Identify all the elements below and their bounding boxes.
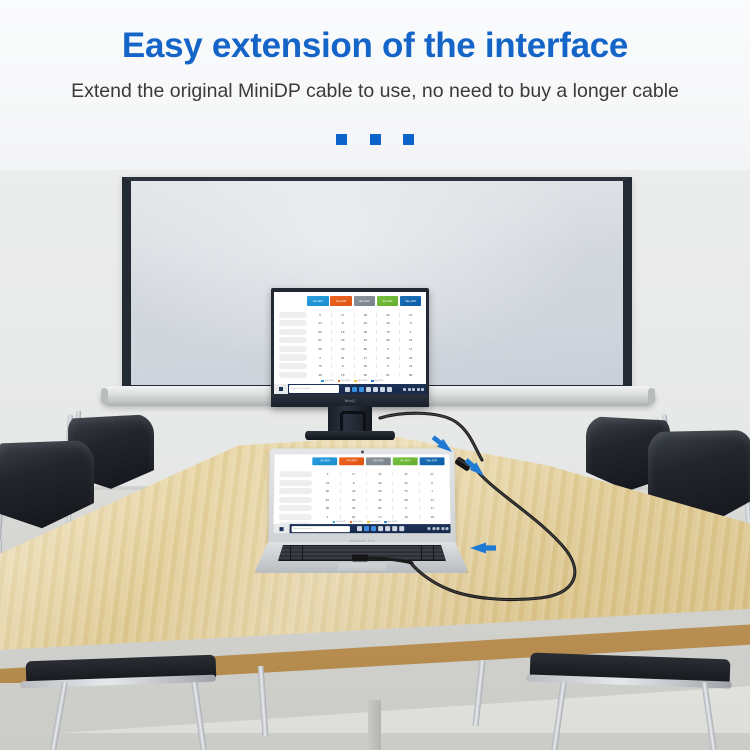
legend-entry: Feb 2019	[338, 380, 351, 383]
table-row: 23849198	[279, 319, 422, 328]
spreadsheet-table: Jan 2019Feb 2019Mar 2019Apr 2019May 2019…	[279, 458, 445, 516]
dot-3-icon	[403, 134, 414, 145]
spreadsheet-cell: 85	[355, 347, 378, 351]
keyboard-row	[279, 553, 446, 556]
legend-swatch	[350, 521, 353, 524]
spreadsheet-cell: 5	[309, 313, 332, 317]
spreadsheet-cell: 33	[377, 313, 400, 317]
spreadsheet-cell: 81	[332, 356, 355, 360]
tray-icon[interactable]	[436, 527, 439, 530]
spreadsheet-cell: 18	[332, 330, 355, 334]
spreadsheet-cell: 8	[419, 481, 444, 485]
table-center-leg	[368, 700, 381, 750]
legend-swatch	[338, 380, 341, 383]
spreadsheet-row-label	[279, 346, 308, 352]
keyboard-key[interactable]	[374, 553, 385, 556]
spreadsheet-legend: Jan 2019Feb 2019Mar 2019Apr 2019	[286, 380, 418, 383]
spreadsheet-row-label	[279, 329, 308, 335]
taskbar-search-input[interactable]: Type here to search	[289, 385, 339, 393]
taskbar-app-icon[interactable]	[385, 526, 390, 531]
spreadsheet-cell: 75	[377, 330, 400, 334]
keyboard-key[interactable]	[326, 549, 337, 552]
spreadsheet-cell: 2	[309, 356, 332, 360]
keyboard-key[interactable]	[338, 549, 349, 552]
legend-label: Mar 2019	[371, 521, 380, 523]
spreadsheet-cell: 24	[400, 338, 422, 342]
spreadsheet-cell: 19	[400, 364, 422, 368]
spreadsheet-row-label	[279, 354, 308, 360]
laptop[interactable]: Jan 2019Feb 2019Mar 2019Apr 2019May 2019…	[254, 448, 469, 573]
tray-icon[interactable]	[421, 388, 424, 391]
legend-entry: Apr 2019	[371, 380, 383, 383]
table-row: 517253321	[280, 470, 445, 479]
table-row: 8153425824	[279, 336, 422, 345]
spreadsheet-column-header: Jan 2019	[313, 458, 338, 465]
header-banner: Easy extension of the interface Extend t…	[0, 0, 750, 170]
spreadsheet-cell: 28	[355, 330, 378, 334]
legend-label: Mar 2019	[358, 380, 367, 382]
keyboard-key[interactable]	[303, 549, 314, 552]
spreadsheet-column-header: May 2019	[419, 458, 444, 465]
spreadsheet-cell: 24	[420, 498, 445, 502]
spreadsheet-cell: 49	[367, 481, 393, 485]
keyboard-key[interactable]	[410, 546, 421, 549]
spreadsheet-cell: 58	[315, 506, 341, 510]
monitor-stand-base	[305, 431, 395, 440]
legend-entry: Jan 2019	[332, 521, 345, 524]
spreadsheet-row-label	[280, 471, 313, 477]
spreadsheet-row-label	[279, 488, 312, 494]
spreadsheet-cell: 8	[332, 321, 355, 325]
spreadsheet-cell: 18	[332, 373, 355, 377]
keyboard-key[interactable]	[398, 546, 409, 549]
keyboard-key[interactable]	[314, 546, 325, 549]
spreadsheet-cell: 8	[341, 481, 367, 485]
spreadsheet-cell: 81	[377, 373, 400, 377]
windows-icon	[279, 387, 283, 391]
legend-swatch	[321, 380, 324, 383]
spreadsheet-column-header: Apr 2019	[377, 296, 399, 306]
dot-1-icon	[336, 134, 347, 145]
spreadsheet-column-header: Jan 2019	[307, 296, 329, 306]
laptop-lid: Jan 2019Feb 2019Mar 2019Apr 2019May 2019…	[268, 449, 456, 545]
taskbar-app-icon[interactable]	[387, 387, 392, 392]
spreadsheet-cell: 85	[367, 506, 393, 510]
spreadsheet-cell: 29	[332, 347, 355, 351]
taskbar[interactable]: Type here to search	[273, 524, 450, 533]
tray-icon[interactable]	[441, 527, 444, 530]
chair-front-left	[10, 650, 240, 750]
spreadsheet-cell: 5	[393, 506, 419, 510]
tray-icon[interactable]	[427, 527, 430, 530]
spreadsheet-cell: 38	[309, 373, 332, 377]
spreadsheet-row-label	[279, 497, 312, 503]
spreadsheet-legend: Jan 2019Feb 2019Mar 2019Apr 2019	[288, 521, 442, 524]
spreadsheet-cell: 80	[315, 489, 341, 493]
keyboard-key[interactable]	[338, 546, 349, 549]
keyboard-key[interactable]	[398, 549, 409, 552]
spreadsheet-column-header: Feb 2019	[339, 458, 364, 465]
taskbar-app-icon[interactable]	[392, 526, 397, 531]
spreadsheet-laptop: Jan 2019Feb 2019Mar 2019Apr 2019May 2019…	[273, 454, 450, 533]
keyboard-key[interactable]	[326, 553, 337, 556]
spreadsheet-table: Jan 2019Feb 2019Mar 2019Apr 2019May 2019…	[279, 296, 422, 372]
windows-icon	[279, 527, 283, 531]
spreadsheet-cell: 21	[400, 313, 422, 317]
taskbar-app-icon[interactable]	[378, 526, 383, 531]
spreadsheet-row-label	[279, 320, 308, 326]
spreadsheet-cell: 8	[400, 321, 422, 325]
start-button[interactable]	[273, 524, 289, 533]
keyboard-key[interactable]	[398, 553, 409, 556]
taskbar-app-icon[interactable]	[345, 387, 350, 392]
legend-label: Apr 2019	[375, 380, 384, 382]
keyboard-key[interactable]	[303, 557, 314, 560]
spreadsheet-cell: 81	[315, 498, 341, 502]
spreadsheet-column-header: Feb 2019	[330, 296, 352, 306]
page-title: Easy extension of the interface	[0, 26, 750, 66]
spreadsheet-cell: 25	[355, 313, 378, 317]
decorative-dots	[0, 131, 750, 149]
keyboard-key[interactable]	[362, 557, 373, 560]
spreadsheet-cell: 5	[377, 347, 400, 351]
spreadsheet-cell: 49	[355, 321, 378, 325]
legend-label: Feb 2019	[353, 521, 362, 523]
spreadsheet-monitor: Jan 2019Feb 2019Mar 2019Apr 2019May 2019…	[274, 292, 426, 395]
tray-icon[interactable]	[417, 388, 420, 391]
keyboard-key[interactable]	[386, 549, 397, 552]
external-monitor[interactable]: Jan 2019Feb 2019Mar 2019Apr 2019May 2019…	[271, 288, 429, 418]
spreadsheet-cell: 5	[315, 472, 341, 476]
laptop-screen[interactable]: Jan 2019Feb 2019Mar 2019Apr 2019May 2019…	[273, 454, 450, 533]
spreadsheet-cell: 80	[400, 373, 422, 377]
spreadsheet-cell: 42	[355, 338, 378, 342]
spreadsheet-cell: 17	[355, 356, 378, 360]
keyboard-key[interactable]	[398, 557, 409, 560]
spreadsheet-row-label	[279, 372, 308, 378]
keyboard-key[interactable]	[374, 546, 385, 549]
keyboard-key[interactable]	[314, 557, 325, 560]
keyboard-key[interactable]	[338, 553, 349, 556]
spreadsheet-cell: 75	[393, 489, 419, 493]
spreadsheet-cell: 53	[341, 498, 367, 502]
spreadsheet-cell: 58	[393, 498, 419, 502]
tray-icon[interactable]	[412, 388, 415, 391]
monitor-bezel: Jan 2019Feb 2019Mar 2019Apr 2019May 2019…	[271, 288, 429, 407]
chair-leg	[701, 682, 716, 750]
spreadsheet-cell: 75	[309, 364, 332, 368]
spreadsheet-row-label	[279, 312, 308, 318]
spreadsheet-cell: 17	[332, 313, 355, 317]
laptop-trackpad[interactable]	[338, 563, 386, 571]
keyboard-key[interactable]	[386, 546, 397, 549]
spreadsheet-cell: 26	[355, 364, 378, 368]
chair-leg	[551, 682, 566, 750]
spreadsheet-cell: 28	[367, 489, 393, 493]
taskbar-icons[interactable]	[357, 526, 404, 531]
spreadsheet-cell: 33	[393, 472, 419, 476]
table-row: 582985517	[279, 345, 422, 354]
spreadsheet-cell: 17	[400, 347, 422, 351]
keyboard-key[interactable]	[291, 549, 302, 552]
legend-label: Feb 2019	[341, 380, 350, 382]
keyboard-key[interactable]	[422, 546, 433, 549]
spreadsheet-column-header: Apr 2019	[393, 458, 418, 465]
monitor-brand-label: BenQ	[345, 399, 355, 403]
legend-swatch	[371, 380, 374, 383]
legend-entry: Mar 2019	[367, 521, 380, 524]
legend-label: Apr 2019	[388, 521, 397, 523]
tray-icon[interactable]	[408, 388, 411, 391]
keyboard-key[interactable]	[374, 549, 385, 552]
taskbar-tray[interactable]	[427, 527, 448, 530]
taskbar-app-icon[interactable]	[359, 387, 364, 392]
chair-leg	[50, 682, 68, 750]
tray-icon[interactable]	[403, 388, 406, 391]
keyboard-row	[279, 557, 446, 560]
spreadsheet-row-label	[279, 363, 308, 369]
spreadsheet-cell: 18	[341, 489, 367, 493]
taskbar-app-icon[interactable]	[357, 526, 362, 531]
spreadsheet-cell: 58	[377, 338, 400, 342]
spreadsheet-cell: 21	[419, 472, 444, 476]
webcam-icon	[361, 450, 364, 453]
spreadsheet-cell: 53	[332, 338, 355, 342]
keyboard-key[interactable]	[350, 546, 361, 549]
keyboard-key[interactable]	[291, 546, 302, 549]
table-row: 517253321	[279, 310, 422, 319]
spreadsheet-cell: 17	[420, 506, 445, 510]
dot-2-icon	[370, 134, 381, 145]
spreadsheet-row-label	[279, 480, 312, 486]
legend-swatch	[354, 380, 357, 383]
spreadsheet-cell: 23	[315, 481, 341, 485]
spreadsheet-column-header: May 2019	[400, 296, 422, 306]
table-row: 23849198	[279, 478, 444, 487]
page-subtitle: Extend the original MiniDP cable to use,…	[0, 80, 750, 103]
spreadsheet-cell: 29	[341, 506, 367, 510]
keyboard-key[interactable]	[386, 553, 397, 556]
keyboard-row	[279, 549, 446, 552]
tray-icon[interactable]	[432, 527, 435, 530]
keyboard-key[interactable]	[303, 553, 314, 556]
spreadsheet-cell: 19	[393, 481, 419, 485]
spreadsheet-cell: 17	[367, 515, 393, 519]
table-row: 801828751	[279, 487, 444, 496]
spreadsheet-column-header: Mar 2019	[366, 458, 391, 465]
spreadsheet-row-label	[279, 514, 312, 520]
legend-entry: Apr 2019	[384, 521, 396, 524]
spreadsheet-cell: 50	[355, 373, 378, 377]
taskbar-app-icon[interactable]	[371, 526, 376, 531]
legend-label: Jan 2019	[336, 521, 345, 523]
keyboard-key[interactable]	[410, 549, 421, 552]
spreadsheet-cell: 1	[420, 489, 445, 493]
taskbar-app-icon[interactable]	[364, 526, 369, 531]
taskbar-app-icon[interactable]	[380, 387, 385, 392]
keyboard-key[interactable]	[422, 557, 433, 560]
spreadsheet-column-header: Mar 2019	[354, 296, 376, 306]
chair-front-right	[500, 648, 750, 750]
keyboard-key[interactable]	[350, 557, 361, 560]
table-row: 582985517	[279, 504, 445, 513]
table-row: 3818508180	[279, 370, 422, 379]
keyboard-key[interactable]	[410, 553, 421, 556]
taskbar-tray[interactable]	[403, 388, 424, 391]
table-row: 801828751	[279, 327, 422, 336]
tray-icon[interactable]	[445, 527, 448, 530]
monitor-screen[interactable]: Jan 2019Feb 2019Mar 2019Apr 2019May 2019…	[274, 292, 426, 395]
legend-swatch	[332, 521, 335, 524]
spreadsheet-cell: 40	[377, 356, 400, 360]
keyboard-key[interactable]	[410, 557, 421, 560]
keyboard-key[interactable]	[291, 553, 302, 556]
legend-swatch	[384, 521, 387, 524]
keyboard-key[interactable]	[350, 549, 361, 552]
spreadsheet-cell: 5	[377, 364, 400, 368]
taskbar-app-icon[interactable]	[366, 387, 371, 392]
spreadsheet-row-label	[279, 505, 312, 511]
keyboard-key[interactable]	[422, 553, 433, 556]
table-row: 281174036	[279, 353, 422, 362]
spreadsheet-cell: 80	[309, 330, 332, 334]
table-row: 75826519	[279, 362, 422, 371]
keyboard-key[interactable]	[314, 553, 325, 556]
taskbar-search-input[interactable]: Type here to search	[291, 526, 349, 532]
keyboard-key[interactable]	[362, 546, 373, 549]
spreadsheet-cell: 81	[309, 338, 332, 342]
keyboard-key[interactable]	[422, 549, 433, 552]
spreadsheet-cell: 8	[332, 364, 355, 368]
taskbar-icons[interactable]	[345, 387, 392, 392]
keyboard-key[interactable]	[350, 553, 361, 556]
legend-entry: Feb 2019	[350, 521, 363, 524]
keyboard-row	[279, 546, 446, 549]
spreadsheet-header-row: Jan 2019Feb 2019Mar 2019Apr 2019May 2019	[313, 458, 445, 465]
keyboard-key[interactable]	[314, 549, 325, 552]
spreadsheet-cell: 58	[309, 347, 332, 351]
laptop-keyboard[interactable]	[278, 545, 446, 561]
conference-room-photo: Jan 2019Feb 2019Mar 2019Apr 2019May 2019…	[0, 160, 750, 750]
keyboard-key[interactable]	[362, 553, 373, 556]
keyboard-key[interactable]	[279, 553, 290, 556]
legend-swatch	[367, 521, 370, 524]
legend-label: Jan 2019	[325, 380, 334, 382]
chair-leg	[191, 682, 206, 750]
table-row: 8153425824	[279, 495, 445, 504]
spreadsheet-cell: 1	[400, 330, 422, 334]
keyboard-key[interactable]	[326, 557, 337, 560]
spreadsheet-cell: 17	[341, 472, 367, 476]
taskbar-app-icon[interactable]	[373, 387, 378, 392]
legend-entry: Jan 2019	[321, 380, 334, 383]
keyboard-key[interactable]	[291, 557, 302, 560]
taskbar-app-icon[interactable]	[352, 387, 357, 392]
keyboard-key[interactable]	[362, 549, 373, 552]
keyboard-key[interactable]	[279, 557, 290, 560]
spreadsheet-cell: 42	[367, 498, 393, 502]
legend-entry: Mar 2019	[354, 380, 367, 383]
spreadsheet-row-label	[279, 337, 308, 343]
keyboard-key[interactable]	[338, 557, 349, 560]
keyboard-key[interactable]	[326, 546, 337, 549]
spreadsheet-cell: 81	[341, 515, 367, 519]
keyboard-key[interactable]	[434, 557, 445, 560]
spreadsheet-cell: 19	[377, 321, 400, 325]
taskbar-app-icon[interactable]	[399, 526, 404, 531]
spreadsheet-cell: 36	[420, 515, 445, 519]
spreadsheet-cell: 23	[309, 321, 332, 325]
spreadsheet-cell: 36	[400, 356, 422, 360]
monitor-stand-neck	[328, 406, 372, 434]
keyboard-key[interactable]	[386, 557, 397, 560]
spreadsheet-cell: 40	[393, 515, 419, 519]
keyboard-key[interactable]	[434, 553, 445, 556]
spreadsheet-rows: 5172533212384919880182875181534258245829…	[279, 310, 422, 379]
keyboard-key[interactable]	[303, 546, 314, 549]
spreadsheet-cell: 2	[315, 515, 341, 519]
spreadsheet-cell: 25	[367, 472, 393, 476]
spreadsheet-header-row: Jan 2019Feb 2019Mar 2019Apr 2019May 2019	[307, 296, 421, 306]
keyboard-key[interactable]	[374, 557, 385, 560]
